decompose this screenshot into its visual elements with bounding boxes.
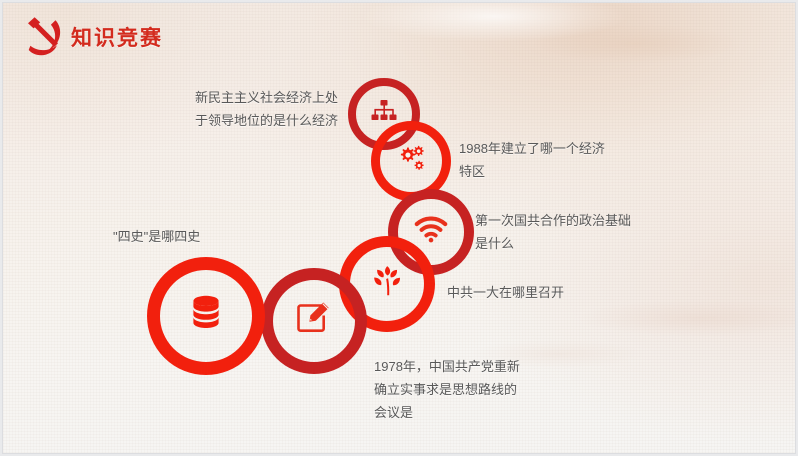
edit-pencil-square-icon bbox=[296, 302, 332, 341]
chain-node-6[interactable] bbox=[147, 257, 265, 375]
slide-header: 知识竞赛 bbox=[3, 3, 795, 63]
question-label-3: 第一次国共合作的政治基础 是什么 bbox=[475, 209, 715, 255]
question-label-1: 新民主主义社会经济上处 于领导地位的是什么经济 bbox=[123, 86, 338, 132]
chain-node-5[interactable] bbox=[261, 268, 367, 374]
wifi-signal-icon bbox=[414, 217, 448, 248]
database-stack-icon bbox=[187, 295, 225, 338]
leaf-branch-icon bbox=[372, 266, 402, 303]
gears-icon bbox=[396, 145, 426, 178]
question-label-2: 1988年建立了哪一个经济 特区 bbox=[459, 137, 689, 183]
question-label-6: "四史"是哪四史 bbox=[113, 225, 313, 248]
question-label-4: 中共一大在哪里召开 bbox=[447, 281, 677, 304]
slide-canvas: 知识竞赛 bbox=[3, 3, 795, 453]
page-title: 知识竞赛 bbox=[71, 22, 163, 52]
question-label-5: 1978年，中国共产党重新 确立实事求是思想路线的 会议是 bbox=[374, 355, 614, 424]
hammer-and-sickle-icon bbox=[21, 17, 67, 57]
